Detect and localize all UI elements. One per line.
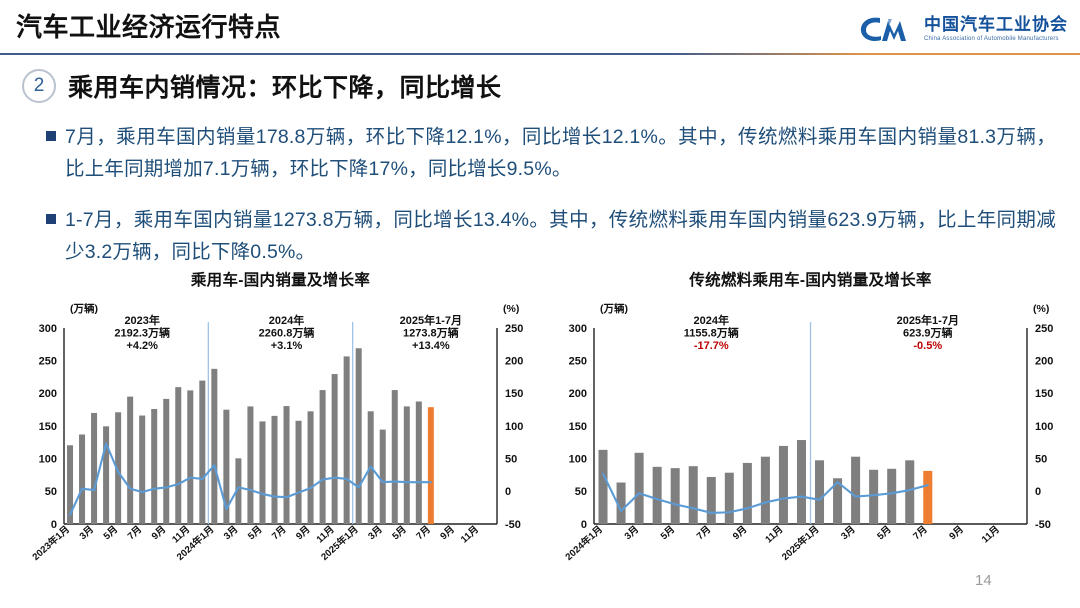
annotation-line: 2260.8万辆 <box>259 326 315 340</box>
y-axis-right-tick-label: 100 <box>1035 421 1053 433</box>
chart-annotation: 2023年2192.3万辆+4.2% <box>114 313 170 352</box>
bar <box>404 406 410 524</box>
x-axis-tick: 7月 <box>126 524 144 542</box>
x-axis-tick-label: 9月 <box>731 524 749 542</box>
annotation-line: 623.9万辆 <box>903 326 953 340</box>
y-axis-unit-label: (万辆) <box>70 302 98 315</box>
y-axis-right-tick-label: 150 <box>505 388 523 400</box>
section-heading: 2 乘用车内销情况：环比下降，同比增长 <box>22 68 502 104</box>
y-axis-right-tick-label: 50 <box>505 453 517 465</box>
x-axis-tick: 3月 <box>366 524 384 542</box>
x-axis-tick-label: 11月 <box>459 524 481 545</box>
x-axis-tick-label: 5月 <box>875 524 893 542</box>
x-axis-tick-label: 3月 <box>623 524 641 542</box>
bar <box>653 467 662 524</box>
chart-canvas: (万辆)(%)050100150200250300-50050100150200… <box>548 292 1073 602</box>
x-axis-tick: 11月 <box>459 524 481 545</box>
bar <box>356 348 362 524</box>
bar <box>296 421 302 524</box>
x-axis-tick-label: 3月 <box>222 524 240 542</box>
y-axis-tick-label: 200 <box>569 388 587 400</box>
bar <box>332 374 338 524</box>
bar <box>284 406 290 524</box>
x-axis-tick: 7月 <box>695 524 713 542</box>
x-axis-tick: 11月 <box>763 524 785 545</box>
bar <box>851 457 860 524</box>
bar <box>671 468 680 524</box>
bar <box>127 397 133 524</box>
bar <box>79 434 85 524</box>
x-axis-tick-label: 3月 <box>839 524 857 542</box>
y-axis-tick-label: 250 <box>39 355 57 367</box>
bar <box>308 411 314 524</box>
annotation-line: 2024年 <box>269 313 304 327</box>
annotation-line: -17.7% <box>694 340 729 352</box>
x-axis-tick-label: 7月 <box>911 524 929 542</box>
bar <box>416 402 422 525</box>
y-axis-right-tick-label: 200 <box>1035 355 1053 367</box>
y-axis-tick-label: 100 <box>569 453 587 465</box>
bar <box>392 390 398 524</box>
bar <box>320 390 326 524</box>
y-axis-tick-label: 300 <box>39 323 57 335</box>
x-axis-tick: 3月 <box>78 524 96 542</box>
caam-logo: 中国汽车工业协会 China Association of Automobile… <box>858 9 1072 49</box>
x-axis-tick-label: 9月 <box>438 524 456 542</box>
caam-logo-icon <box>858 14 916 44</box>
bullet-text: 7月，乘用车国内销量178.8万辆，环比下降12.1%，同比增长12.1%。其中… <box>65 122 1056 185</box>
x-axis-tick: 7月 <box>414 524 432 542</box>
page-title: 汽车工业经济运行特点 <box>16 7 281 44</box>
bar <box>599 450 608 524</box>
x-axis-tick: 7月 <box>911 524 929 542</box>
y-axis-right-tick-label: 50 <box>1035 453 1047 465</box>
x-axis-tick-label: 9月 <box>294 524 312 542</box>
bar <box>139 416 145 524</box>
bar <box>428 407 434 524</box>
x-axis-tick-label: 7月 <box>126 524 144 542</box>
x-axis-tick: 3月 <box>222 524 240 542</box>
bullet-text: 1-7月，乘用车国内销量1273.8万辆，同比增长13.4%。其中，传统燃料乘用… <box>65 205 1056 268</box>
y-axis-right-unit-label: (%) <box>503 303 519 315</box>
y-axis-right-unit-label: (%) <box>1033 303 1049 315</box>
x-axis-tick: 11月 <box>980 524 1002 545</box>
x-axis-tick-label: 2025年1月 <box>779 523 821 563</box>
x-axis-tick: 5月 <box>390 524 408 542</box>
section-number-badge: 2 <box>22 69 56 103</box>
y-axis-right-tick-label: -50 <box>505 519 521 531</box>
x-axis-tick-label: 5月 <box>390 524 408 542</box>
bar <box>259 421 265 524</box>
x-axis-tick: 3月 <box>839 524 857 542</box>
bar <box>761 457 770 524</box>
bar <box>707 477 716 524</box>
y-axis-tick-label: 100 <box>39 453 57 465</box>
bar <box>247 406 253 524</box>
logo-chinese-name: 中国汽车工业协会 <box>924 16 1068 34</box>
annotation-line: 1155.8万辆 <box>684 326 739 340</box>
x-axis-tick-label: 5月 <box>246 524 264 542</box>
chart-conventional-fuel-passenger-vehicle-domestic-sales: 传统燃料乘用车-国内销量及增长率 (万辆)(%)0501001502002503… <box>548 268 1073 602</box>
annotation-line: 2023年 <box>124 313 159 327</box>
x-axis-tick: 9月 <box>438 524 456 542</box>
x-axis-tick-label: 9月 <box>150 524 168 542</box>
x-axis-tick: 9月 <box>150 524 168 542</box>
chart-title: 传统燃料乘用车-国内销量及增长率 <box>548 268 1073 290</box>
logo-text: 中国汽车工业协会 China Association of Automobile… <box>924 16 1068 42</box>
x-axis-tick-label: 9月 <box>947 524 965 542</box>
annotation-line: +13.4% <box>412 340 450 352</box>
annotation-line: 1273.8万辆 <box>403 326 459 340</box>
y-axis-tick-label: 50 <box>575 486 587 498</box>
x-axis-tick: 7月 <box>270 524 288 542</box>
y-axis-right-tick-label: 150 <box>1035 388 1053 400</box>
page-header: 汽车工业经济运行特点 中国汽车工业协会 China Association of… <box>0 0 1080 56</box>
y-axis-tick-label: 150 <box>569 421 587 433</box>
bar <box>187 390 193 524</box>
logo-english-name: China Association of Automobile Manufact… <box>924 36 1068 42</box>
y-axis-right-tick-label: 250 <box>1035 323 1053 335</box>
bar <box>199 381 205 524</box>
bullet-item: 7月，乘用车国内销量178.8万辆，环比下降12.1%，同比增长12.1%。其中… <box>46 122 1056 185</box>
annotation-line: 2025年1-7月 <box>400 313 462 327</box>
bar <box>380 430 386 524</box>
x-axis-tick: 9月 <box>947 524 965 542</box>
x-axis-tick-label: 11月 <box>763 524 785 545</box>
x-axis-tick-label: 7月 <box>270 524 288 542</box>
chart-annotation: 2024年2260.8万辆+3.1% <box>259 313 315 352</box>
bullet-item: 1-7月，乘用车国内销量1273.8万辆，同比增长13.4%。其中，传统燃料乘用… <box>46 205 1056 268</box>
bar <box>779 446 788 524</box>
page-number: 14 <box>975 572 992 589</box>
x-axis-tick-label: 11月 <box>980 524 1002 545</box>
x-axis-tick-label: 5月 <box>102 524 120 542</box>
y-axis-right-tick-label: 200 <box>505 355 523 367</box>
x-axis-tick-label: 7月 <box>414 524 432 542</box>
bar <box>923 471 932 524</box>
chart-title: 乘用车-国内销量及增长率 <box>18 268 543 290</box>
x-axis-tick-label: 3月 <box>366 524 384 542</box>
bar <box>163 399 169 524</box>
bar <box>151 409 157 524</box>
x-axis-tick: 9月 <box>294 524 312 542</box>
chart-annotation: 2024年1155.8万辆-17.7% <box>684 313 739 352</box>
y-axis-tick-label: 50 <box>45 486 57 498</box>
bar <box>905 460 914 524</box>
annotation-line: 2025年1-7月 <box>897 313 959 327</box>
bar <box>211 369 217 524</box>
x-axis-tick-label: 7月 <box>695 524 713 542</box>
y-axis-right-tick-label: -50 <box>1035 519 1051 531</box>
section-title: 乘用车内销情况：环比下降，同比增长 <box>68 68 502 104</box>
x-axis-tick: 5月 <box>659 524 677 542</box>
y-axis-right-tick-label: 100 <box>505 421 523 433</box>
chart-annotation: 2025年1-7月623.9万辆-0.5% <box>897 313 959 352</box>
y-axis-right-tick-label: 0 <box>505 486 511 498</box>
x-axis-tick: 3月 <box>623 524 641 542</box>
bar <box>869 470 878 524</box>
annotation-line: -0.5% <box>913 340 942 352</box>
y-axis-tick-label: 0 <box>51 519 57 531</box>
x-axis-tick-label: 5月 <box>659 524 677 542</box>
chart-canvas: (万辆)(%)050100150200250300-50050100150200… <box>18 292 543 602</box>
annotation-line: 2192.3万辆 <box>114 326 170 340</box>
y-axis-tick-label: 0 <box>581 519 587 531</box>
bar <box>689 466 698 524</box>
bar <box>103 426 109 524</box>
annotation-line: +3.1% <box>271 340 303 352</box>
bar <box>815 460 824 524</box>
y-axis-tick-label: 300 <box>569 323 587 335</box>
y-axis-tick-label: 150 <box>39 421 57 433</box>
header-divider-rule <box>0 53 1080 55</box>
y-axis-unit-label: (万辆) <box>600 302 628 315</box>
x-axis-tick: 9月 <box>731 524 749 542</box>
bullet-marker-icon <box>46 131 56 141</box>
bar <box>344 356 350 524</box>
bar <box>797 440 806 524</box>
y-axis-right-tick-label: 0 <box>1035 486 1041 498</box>
annotation-line: 2024年 <box>694 313 729 327</box>
bar <box>635 453 644 524</box>
x-axis-tick-label: 3月 <box>78 524 96 542</box>
chart-annotation: 2025年1-7月1273.8万辆+13.4% <box>400 313 462 352</box>
y-axis-tick-label: 200 <box>39 388 57 400</box>
bar <box>725 473 734 524</box>
x-axis-tick: 5月 <box>102 524 120 542</box>
x-axis-tick: 5月 <box>875 524 893 542</box>
chart-passenger-vehicle-domestic-sales: 乘用车-国内销量及增长率 (万辆)(%)050100150200250300-5… <box>18 268 543 602</box>
bar <box>887 469 896 524</box>
bar <box>271 416 277 524</box>
y-axis-tick-label: 250 <box>569 355 587 367</box>
bar <box>175 387 181 524</box>
x-axis-tick: 2025年1月 <box>779 523 821 563</box>
bullet-marker-icon <box>46 214 56 224</box>
annotation-line: +4.2% <box>126 340 158 352</box>
bar <box>743 463 752 524</box>
x-axis-tick: 5月 <box>246 524 264 542</box>
bar <box>91 413 97 524</box>
y-axis-right-tick-label: 250 <box>505 323 523 335</box>
